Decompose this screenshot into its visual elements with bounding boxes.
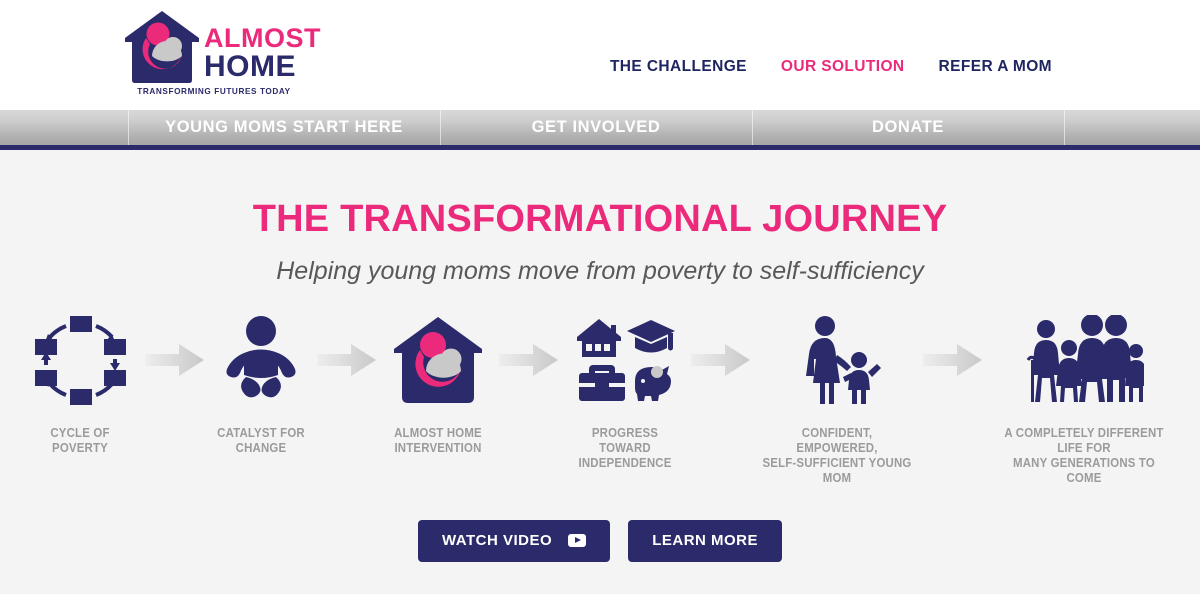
secondary-nav-label: YOUNG MOMS START HERE (165, 118, 403, 137)
secondary-nav-spacer-right (1064, 110, 1200, 145)
journey-stage-confident-young-mom: CONFIDENT, EMPOWERED, SELF-SUFFICIENT YO… (752, 314, 922, 486)
secondary-nav-item-get-involved[interactable]: GET INVOLVED (440, 110, 752, 145)
nav-item-the-challenge[interactable]: THE CHALLENGE (610, 58, 747, 76)
journey-stage-label: A COMPLETELY DIFFERENT LIFE FOR MANY GEN… (996, 426, 1172, 486)
secondary-nav-item-young-moms-start-here[interactable]: YOUNG MOMS START HERE (128, 110, 440, 145)
watch-video-button[interactable]: WATCH VIDEO (418, 520, 610, 562)
secondary-nav-label: DONATE (872, 118, 944, 137)
nav-item-our-solution[interactable]: OUR SOLUTION (781, 58, 905, 76)
journey-stage-label: CONFIDENT, EMPOWERED, SELF-SUFFICIENT YO… (762, 426, 912, 486)
journey-stage-cycle-of-poverty: CYCLE OF POVERTY (16, 314, 144, 456)
logo-word-almost: ALMOST (204, 26, 321, 52)
primary-nav: THE CHALLENGE OUR SOLUTION REFER A MOM (610, 58, 1052, 76)
mother-and-child-icon (752, 314, 922, 406)
journey-stage-almost-home-intervention: ALMOST HOME INTERVENTION (378, 314, 498, 456)
almost-home-house-icon (378, 314, 498, 406)
site-logo[interactable]: ALMOST HOME TRANSFORMING FUTURES TODAY (122, 8, 302, 100)
journey-stage-progress-toward-independence: PROGRESS TOWARD INDEPENDENCE (560, 314, 690, 471)
hero-button-row: WATCH VIDEO LEARN MORE (0, 520, 1200, 562)
page-subtitle: Helping young moms move from poverty to … (0, 257, 1200, 286)
journey-stage-label: CYCLE OF POVERTY (24, 426, 137, 456)
learn-more-label: LEARN MORE (652, 532, 758, 549)
right-arrow-icon (922, 314, 984, 406)
logo-word-home: HOME (204, 52, 321, 82)
page-title: THE TRANSFORMATIONAL JOURNEY (0, 150, 1200, 241)
youtube-play-icon (568, 534, 586, 547)
nav-item-refer-a-mom[interactable]: REFER A MOM (939, 58, 1052, 76)
right-arrow-icon (498, 314, 560, 406)
journey-stage-different-life-generations: A COMPLETELY DIFFERENT LIFE FOR MANY GEN… (984, 314, 1184, 486)
house-grad-briefcase-piggy-icon (560, 314, 690, 406)
right-arrow-icon (690, 314, 752, 406)
site-header: ALMOST HOME TRANSFORMING FUTURES TODAY T… (0, 0, 1200, 110)
journey-stage-catalyst-for-change: CATALYST FOR CHANGE (206, 314, 316, 456)
journey-stage-label: ALMOST HOME INTERVENTION (385, 426, 491, 456)
almost-home-logo-icon (122, 8, 202, 86)
baby-icon (206, 314, 316, 406)
logo-tagline: TRANSFORMING FUTURES TODAY (126, 87, 302, 96)
journey-stage-label: PROGRESS TOWARD INDEPENDENCE (568, 426, 682, 471)
journey-diagram: CYCLE OF POVERTY (0, 314, 1200, 486)
right-arrow-icon (144, 314, 206, 406)
hero-section: THE TRANSFORMATIONAL JOURNEY Helping you… (0, 150, 1200, 594)
family-generations-icon (984, 314, 1184, 406)
journey-stage-label: CATALYST FOR CHANGE (213, 426, 310, 456)
secondary-nav-label: GET INVOLVED (532, 118, 661, 137)
secondary-nav-spacer (0, 110, 128, 145)
secondary-nav-bar: YOUNG MOMS START HERE GET INVOLVED DONAT… (0, 110, 1200, 150)
watch-video-label: WATCH VIDEO (442, 532, 552, 549)
secondary-nav-item-donate[interactable]: DONATE (752, 110, 1064, 145)
cycle-of-poverty-icon (16, 314, 144, 406)
right-arrow-icon (316, 314, 378, 406)
learn-more-button[interactable]: LEARN MORE (628, 520, 782, 562)
